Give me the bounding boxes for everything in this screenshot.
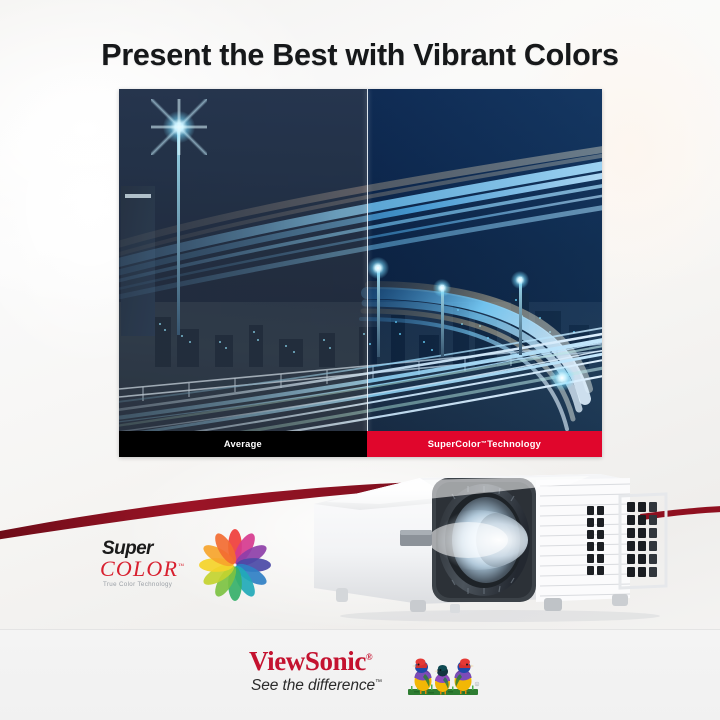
label-average: Average [119,431,367,457]
supercolor-color-text: COLOR [100,556,178,581]
viewsonic-tagline-tm: ™ [375,679,382,686]
label-supercolor: SuperColor™ Technology [367,431,602,457]
viewsonic-wordmark: ViewSonic® [249,646,372,677]
comparison-labels: Average SuperColor™ Technology [119,431,602,457]
viewsonic-tagline-text: See the difference [251,677,375,694]
supercolor-tm: ™ [178,564,185,570]
supercolor-logo: Super COLOR™ True Color Technology [100,532,265,598]
gouldian-finches-icon: R [405,648,481,698]
marketing-banner: Present the Best with Vibrant Colors [0,0,720,720]
viewsonic-logo: ViewSonic® See the difference™ [249,646,479,702]
viewsonic-tagline: See the difference™ [251,677,382,695]
projector-product-image [300,470,700,622]
comparison-image: Average SuperColor™ Technology [119,89,602,457]
label-supercolor-text: SuperColor [428,439,481,449]
street-lamp-b-glow [367,257,389,279]
street-lamp-d-glow [511,271,529,289]
supercolor-word-color: COLOR™ [100,556,185,582]
street-lamp-main-starburst [151,99,207,155]
street-lamp-e-glow [549,365,575,391]
svg-text:R: R [476,683,478,686]
viewsonic-brand-text: ViewSonic [249,646,366,676]
supercolor-half-overlay [367,89,602,457]
viewsonic-registered-mark: ® [366,652,372,662]
street-lamp-main [177,125,180,335]
label-supercolor-suffix: Technology [487,439,541,449]
supercolor-tagline: True Color Technology [103,581,172,588]
street-lamp-c-glow [433,279,451,297]
page-title: Present the Best with Vibrant Colors [0,38,720,73]
rainbow-pinwheel-icon [199,529,271,601]
